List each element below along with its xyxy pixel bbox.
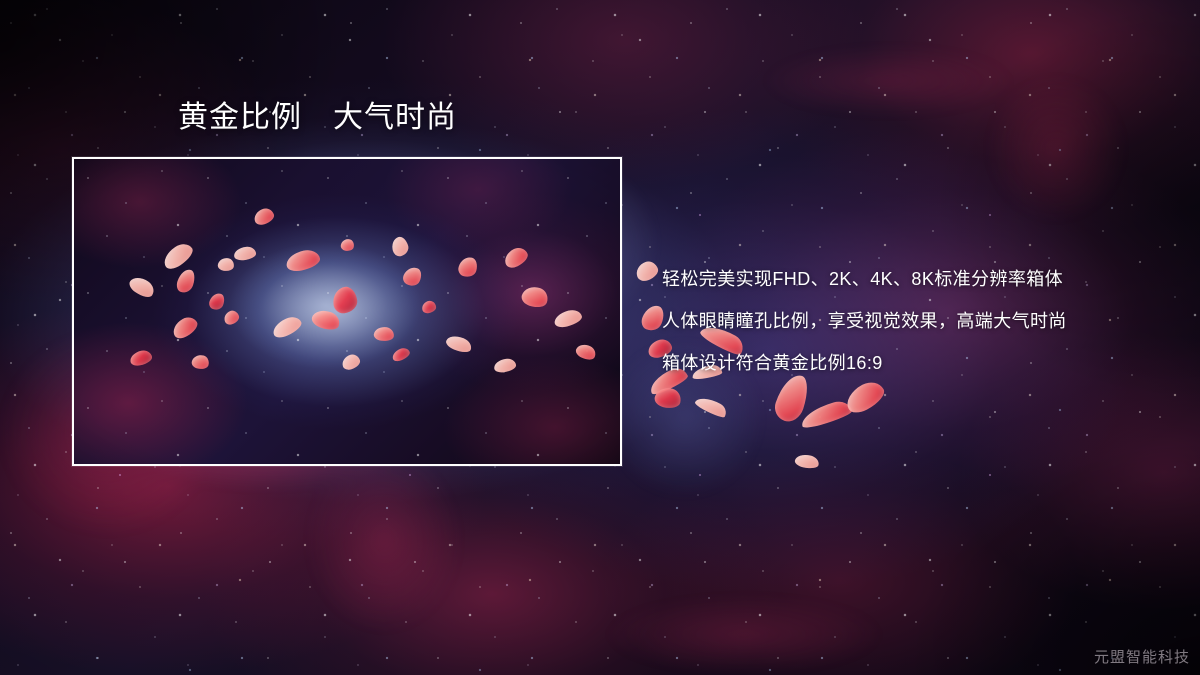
description-line: 轻松完美实现FHD、2K、4K、8K标准分辨率箱体 xyxy=(662,258,1132,300)
page-title: 黄金比例 大气时尚 xyxy=(178,101,457,136)
presentation-slide: 黄金比例 大气时尚 轻松完美实现FHD、2K、4K、8K标准分辨率箱体 人体眼睛… xyxy=(0,0,1200,675)
cabinet-preview-frame xyxy=(72,157,622,466)
description-line: 人体眼睛瞳孔比例，享受视觉效果，高端大气时尚 xyxy=(662,300,1132,342)
description-line: 箱体设计符合黄金比例16:9 xyxy=(662,342,1132,384)
preview-vignette xyxy=(74,159,620,464)
brand-watermark: 元盟智能科技 xyxy=(1094,646,1190,667)
feature-description: 轻松完美实现FHD、2K、4K、8K标准分辨率箱体 人体眼睛瞳孔比例，享受视觉效… xyxy=(662,258,1132,384)
